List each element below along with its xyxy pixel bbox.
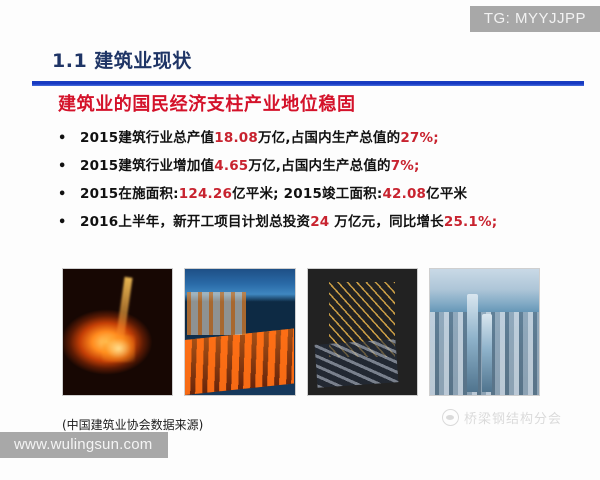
- plain-text: 亿平米; 2015竣工面积:: [232, 186, 382, 202]
- bullet-marker-icon: •: [58, 216, 80, 229]
- bullet-text: 2015在施面积:124.26亿平米; 2015竣工面积:42.08亿平米: [80, 182, 467, 202]
- plain-text: 亿平米: [426, 186, 467, 202]
- photo-molten-steel-ladle-pour: [62, 268, 173, 396]
- highlight-value: 25.1%: [444, 214, 492, 230]
- bullet-list: •2015建筑行业总产值18.08万亿,占国内生产总值的27%;•2015建筑行…: [58, 126, 578, 238]
- highlight-value: 124.26: [179, 186, 232, 202]
- page-title: 1.1 建筑业现状: [52, 46, 192, 73]
- highlight-value: 18.08: [214, 130, 258, 146]
- highlight-value: 24: [310, 214, 329, 230]
- plain-text: 2015在施面积:: [80, 186, 179, 202]
- tower-shape: [482, 314, 492, 392]
- bullet-item: •2015建筑行业总产值18.08万亿,占国内生产总值的27%;: [58, 126, 578, 154]
- org-watermark: 桥梁钢结构分会: [442, 408, 562, 427]
- plain-text: 2015建筑行业总产值: [80, 130, 214, 146]
- highlight-value: 7%: [391, 158, 414, 174]
- tower-shape: [467, 294, 478, 392]
- plain-text: 2015建筑行业增加值: [80, 158, 214, 174]
- bullet-text: 2016上半年，新开工项目计划总投资24 万亿元，同比增长25.1%;: [80, 210, 497, 230]
- photo-welding-sparks-rebar: [307, 268, 418, 396]
- site-url-watermark: www.wulingsun.com: [0, 432, 168, 458]
- bullet-marker-icon: •: [58, 132, 80, 145]
- red-heading: 建筑业的国民经济支柱产业地位稳固: [58, 90, 356, 116]
- tg-watermark: TG: MYYJJPP: [470, 6, 600, 32]
- bullet-item: •2015建筑行业增加值4.65万亿,占国内生产总值的7%;: [58, 154, 578, 182]
- highlight-value: 4.65: [214, 158, 248, 174]
- title-divider: [32, 81, 584, 86]
- plain-text: 2016上半年，新开工项目计划总投资: [80, 214, 310, 230]
- bullet-marker-icon: •: [58, 188, 80, 201]
- photo-steel-rolling-mill-hall: [184, 268, 295, 396]
- org-logo-icon: [442, 409, 459, 426]
- photo-strip: [62, 268, 540, 396]
- plain-text: 万亿,占国内生产总值的: [248, 158, 390, 174]
- bullet-text: 2015建筑行业增加值4.65万亿,占国内生产总值的7%;: [80, 154, 420, 174]
- photo-city-skyline-aerial: [429, 268, 540, 396]
- highlight-value: 27%: [400, 130, 433, 146]
- org-watermark-label: 桥梁钢结构分会: [464, 408, 562, 427]
- data-source-caption: (中国建筑业协会数据来源): [62, 416, 203, 433]
- bullet-item: •2016上半年，新开工项目计划总投资24 万亿元，同比增长25.1%;: [58, 210, 578, 238]
- highlight-value: ;: [492, 214, 498, 230]
- bullet-item: •2015在施面积:124.26亿平米; 2015竣工面积:42.08亿平米: [58, 182, 578, 210]
- bullet-marker-icon: •: [58, 160, 80, 173]
- bullet-text: 2015建筑行业总产值18.08万亿,占国内生产总值的27%;: [80, 126, 439, 146]
- plain-text: 万亿元，同比增长: [329, 214, 444, 230]
- slide-canvas: TG: MYYJJPP 1.1 建筑业现状 建筑业的国民经济支柱产业地位稳固 •…: [0, 0, 600, 480]
- highlight-value: ;: [414, 158, 420, 174]
- plain-text: 万亿,占国内生产总值的: [258, 130, 400, 146]
- highlight-value: ;: [433, 130, 439, 146]
- highlight-value: 42.08: [382, 186, 426, 202]
